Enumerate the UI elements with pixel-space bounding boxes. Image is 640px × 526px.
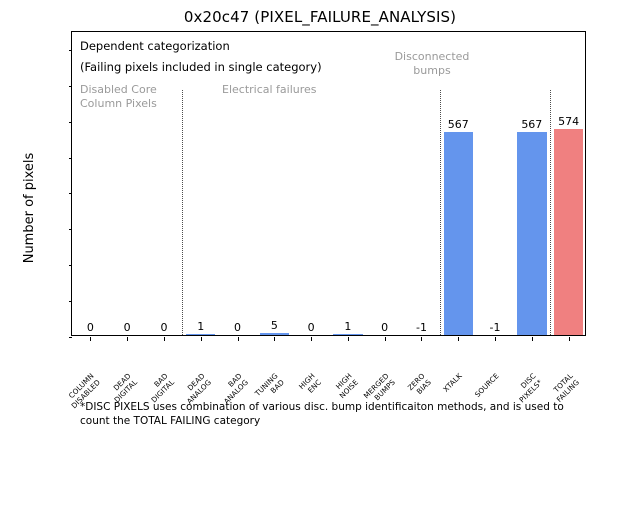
- chart-title: 0x20c47 (PIXEL_FAILURE_ANALYSIS): [0, 8, 640, 26]
- category-divider: [440, 90, 441, 335]
- x-tick-mark: [127, 337, 128, 341]
- x-tick-mark: [421, 337, 422, 341]
- plot-annotation: (Failing pixels included in single categ…: [80, 61, 322, 75]
- x-tick-mark: [164, 337, 165, 341]
- x-tick-mark: [495, 337, 496, 341]
- y-tick-mark: [69, 158, 73, 159]
- plot-annotation: Disabled Core Column Pixels: [80, 83, 157, 110]
- chart-footnote: *DISC PIXELS uses combination of various…: [80, 400, 580, 428]
- plot-annotation: Dependent categorization: [80, 40, 230, 54]
- bar-value-label: 574: [539, 115, 599, 128]
- y-tick-mark: [69, 301, 73, 302]
- plot-area: Number of pixels 01002003004005006007008…: [71, 31, 586, 336]
- bar: [517, 132, 546, 335]
- y-tick-mark: [69, 337, 73, 338]
- x-tick-mark: [532, 337, 533, 341]
- plot-annotation: Disconnected bumps: [372, 50, 492, 77]
- bar: [444, 132, 473, 335]
- y-tick-mark: [69, 122, 73, 123]
- x-tick-mark: [458, 337, 459, 341]
- x-tick-mark: [385, 337, 386, 341]
- x-tick-mark: [90, 337, 91, 341]
- x-tick-mark: [201, 337, 202, 341]
- x-tick-label: TOTAL FAILING: [427, 372, 581, 526]
- x-tick-mark: [311, 337, 312, 341]
- y-tick-mark: [69, 193, 73, 194]
- chart-figure: 0x20c47 (PIXEL_FAILURE_ANALYSIS) Number …: [0, 0, 640, 480]
- y-tick-mark: [69, 229, 73, 230]
- bar: [554, 129, 583, 335]
- category-divider: [550, 90, 551, 335]
- x-tick-mark: [569, 337, 570, 341]
- y-tick-mark: [69, 50, 73, 51]
- bar-value-label: -1: [391, 321, 451, 334]
- bar-value-label: 567: [428, 118, 488, 131]
- x-tick-mark: [348, 337, 349, 341]
- category-divider: [182, 90, 183, 335]
- plot-annotation: Electrical failures: [222, 83, 317, 97]
- x-tick-mark: [274, 337, 275, 341]
- y-tick-mark: [69, 86, 73, 87]
- y-axis-label: Number of pixels: [22, 108, 37, 308]
- x-tick-mark: [238, 337, 239, 341]
- bar-value-label: -1: [465, 321, 525, 334]
- y-tick-mark: [69, 265, 73, 266]
